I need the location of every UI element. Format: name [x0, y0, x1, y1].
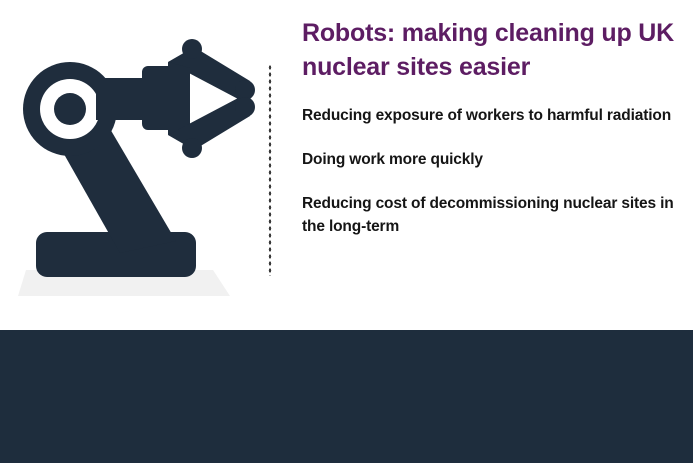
content-column: Robots: making cleaning up UK nuclear si…	[302, 16, 684, 238]
robot-arm-icon	[8, 38, 260, 300]
bottom-banner: Nuclear Decommissioning Authority #Decom…	[0, 330, 693, 463]
vertical-dotted-divider	[268, 64, 272, 276]
benefit-item: Reducing cost of decommissioning nuclear…	[302, 192, 684, 238]
infographic-canvas: Robots: making cleaning up UK nuclear si…	[0, 0, 693, 463]
benefits-list: Reducing exposure of workers to harmful …	[302, 104, 684, 238]
page-title: Robots: making cleaning up UK nuclear si…	[302, 16, 684, 84]
benefit-item: Reducing exposure of workers to harmful …	[302, 104, 684, 127]
benefit-item: Doing work more quickly	[302, 148, 684, 171]
